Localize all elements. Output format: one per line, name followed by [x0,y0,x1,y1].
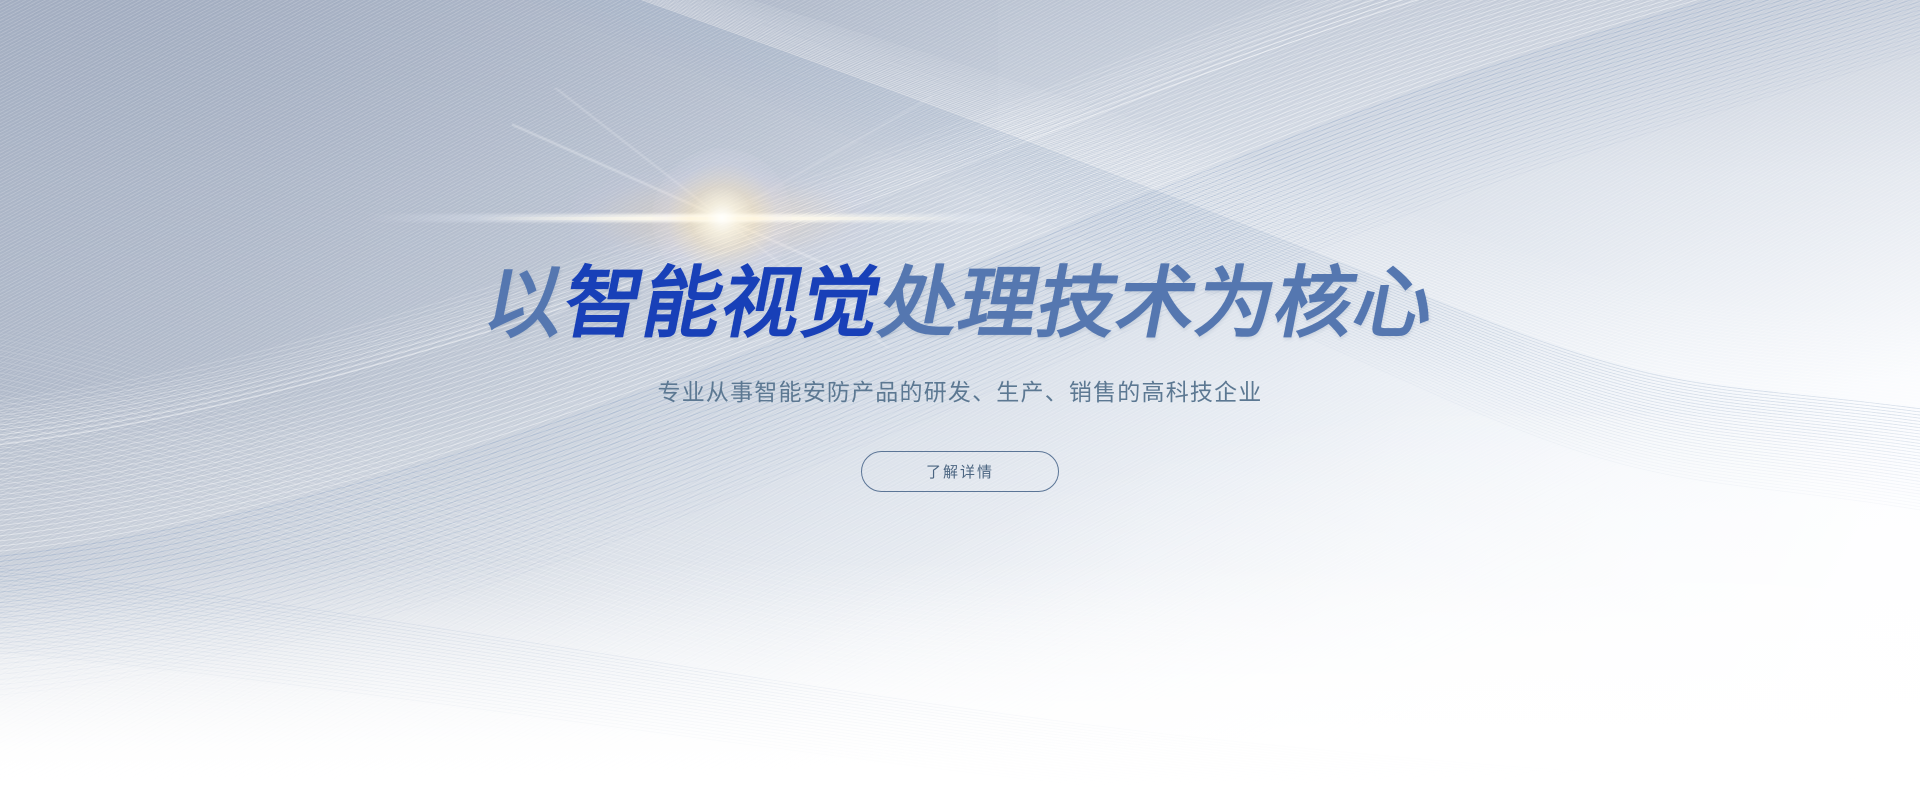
learn-more-button[interactable]: 了解详情 [861,451,1059,492]
headline-segment-3: 处理技术为核心 [872,259,1443,349]
page-subtitle: 专业从事智能安防产品的研发、生产、销售的高科技企业 [658,378,1263,408]
page-title: 以智能视觉处理技术为核心 [477,258,1443,350]
headline-segment-2: 智能视觉 [556,259,890,349]
hero-banner: 以智能视觉处理技术为核心 专业从事智能安防产品的研发、生产、销售的高科技企业 了… [0,0,1920,800]
hero-content: 以智能视觉处理技术为核心 专业从事智能安防产品的研发、生产、销售的高科技企业 了… [0,0,1920,800]
